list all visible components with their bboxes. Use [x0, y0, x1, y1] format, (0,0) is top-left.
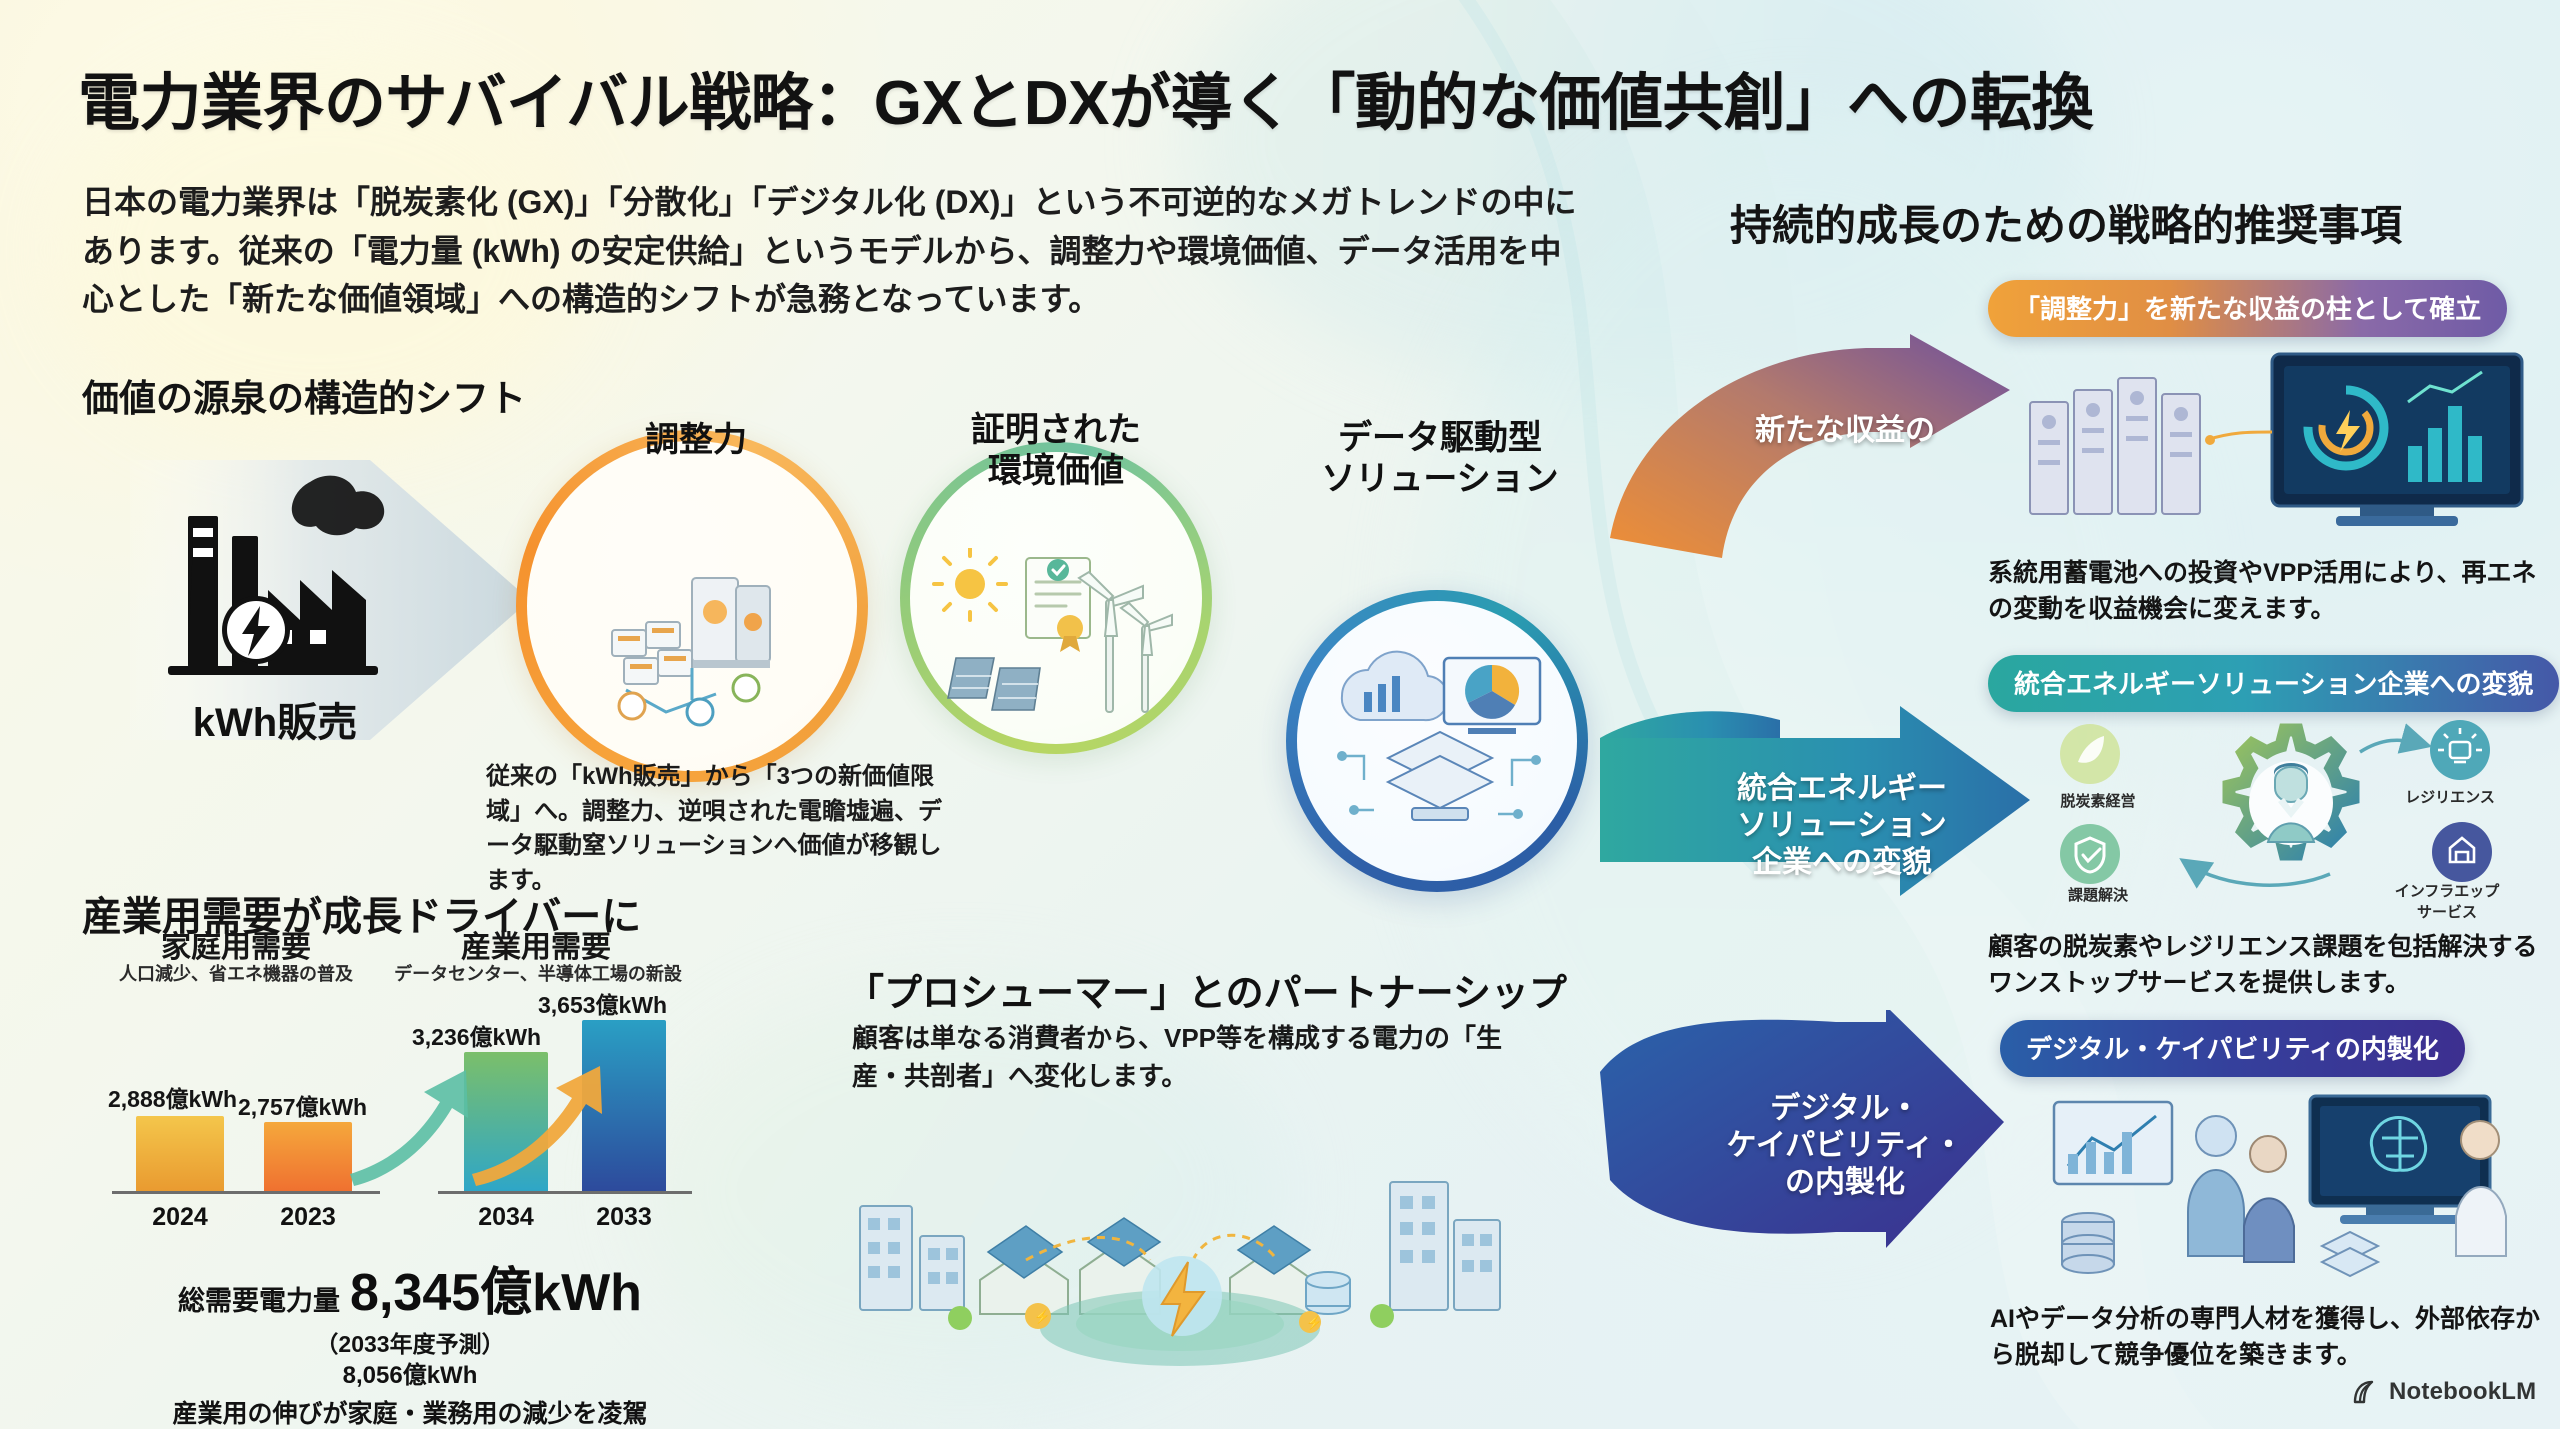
growth-arrow-orange [470, 1064, 630, 1194]
bar-2024 [136, 1116, 224, 1192]
arrow-label-line-2: ケイパビリティ・ [1700, 1127, 1990, 1164]
flow-arrow-label-integrated-energy: 統合エネルギー ソリューション 企業への変貌 [1692, 770, 1992, 882]
bar-value-2033: 3,653億kWh [538, 986, 667, 1020]
chart-axis-household [112, 1191, 380, 1194]
prosumer-heading: 「プロシューマー」とのパートナーシップ [846, 962, 1567, 1017]
bar-2023 [264, 1122, 352, 1192]
prosumer-note: 顧客は単なる消費者から、VPP等を構成する電力の「生産・共剖者」へ変化します。 [852, 1020, 1512, 1095]
total-secondary-value: 8,056億kWh [100, 1355, 720, 1390]
arrow-label-line-2: ソリューション [1692, 807, 1992, 844]
total-footnote: 産業用の伸びが家庭・業務用の減少を凌駕 [100, 1394, 720, 1429]
total-value: 8,345億kWh [350, 1250, 642, 1325]
value-circle-title-data-driven: データ駆動型 ソリューション [1260, 418, 1620, 501]
mini-label-infra-service: インフラエップ サービス [2372, 880, 2522, 922]
flow-arrow-label-digital-capability: デジタル・ ケイパビリティ・ の内製化 [1700, 1090, 1990, 1202]
chart-group-subtitle-industrial: データセンター、半導体工場の新設 [378, 960, 698, 986]
arrow-label-line-3: の内製化 [1700, 1164, 1990, 1201]
prosumer-city-illustration: ⚡⚡ [830, 1110, 1530, 1380]
total-label: 総需要電力量 [178, 1279, 340, 1318]
kwh-sales-label: kWh販売 [150, 690, 400, 748]
solar-wind-certificate-icon [930, 548, 1180, 738]
arrow-label-line-1: デジタル・ [1700, 1090, 1990, 1127]
circle-title-line-2: 環境価値 [886, 451, 1226, 492]
bar-x-label-2023: 2023 [264, 1203, 352, 1232]
recommendation-pill-1[interactable]: 「調整力」を新たな収益の柱として確立 [1988, 280, 2507, 337]
recommendation-note-2: 顧客の脱炭素やレジリエンス課題を包括解決するワンストップサービスを提供します。 [1988, 930, 2558, 1001]
svg-text:⚡: ⚡ [1034, 1309, 1050, 1325]
arrow-label-line-3: 企業への変貌 [1692, 844, 1992, 881]
notebooklm-logo-icon [2352, 1379, 2380, 1405]
total-sublabel: （2033年度予測） [100, 1325, 720, 1359]
value-circle-title-environment: 証明された 環境価値 [886, 410, 1226, 493]
demand-bar-chart: 家庭用需要 人口減少、省エネ機器の普及 2,888億kWh 2024 2,757… [86, 946, 726, 1236]
battery-storage-icon [596, 560, 796, 740]
recommendation-note-1: 系統用蓄電池への投資やVPP活用により、再エネの変動を収益機会に変えます。 [1988, 556, 2548, 627]
bar-x-label-2033: 2033 [582, 1203, 666, 1232]
intro-paragraph: 日本の電力業界は「脱炭素化 (GX)」「分散化」「デジタル化 (DX)」という不… [82, 178, 1592, 324]
page-title: 電力業界のサバイバル戦略：GXとDXが導く「動的な価値共創」への転換 [78, 52, 2498, 142]
infographic-canvas: 電力業界のサバイバル戦略：GXとDXが導く「動的な価値共創」への転換 日本の電力… [0, 0, 2560, 1429]
svg-text:⚡: ⚡ [1306, 1315, 1322, 1331]
value-circle-title-adjustment: 調整力 [536, 420, 856, 461]
cloud-analytics-icon [1316, 638, 1556, 848]
bar-x-label-2034: 2034 [464, 1203, 548, 1232]
bar-value-2024: 2,888億kWh [108, 1080, 237, 1114]
battery-racks-and-monitor-icon [2010, 336, 2550, 546]
chart-group-subtitle-household: 人口減少、省エネ機器の普及 [86, 960, 386, 986]
mini-label-decarbonization: 脱炭素経営 [2038, 790, 2158, 811]
section-heading-recommendations: 持続的成長のための戦略的推奨事項 [1730, 192, 2402, 253]
circle-title-line-1: 証明された [886, 410, 1226, 451]
mini-label-line-1: インフラエップ [2372, 880, 2522, 901]
mini-label-issue-solving: 課題解決 [2038, 884, 2158, 905]
recommendation-pill-3[interactable]: デジタル・ケイパビリティの内製化 [2000, 1020, 2465, 1077]
chart-total-summary: 総需要電力量8,345億kWh （2033年度予測） 8,056億kWh 産業用… [100, 1250, 720, 1429]
mini-label-resilience: レジリエンス [2380, 786, 2520, 807]
recommendation-pill-2[interactable]: 統合エネルギーソリューション企業への変貌 [1988, 655, 2559, 712]
bar-value-2034: 3,236億kWh [412, 1018, 541, 1052]
flow-arrow-label-new-revenue: 新たな収益の [1700, 412, 1990, 449]
section-heading-value-shift: 価値の源泉の構造的シフト [82, 368, 526, 422]
circle-title-line-1: データ駆動型 [1260, 418, 1620, 459]
mini-label-line-2: サービス [2372, 901, 2522, 922]
arrow-label-line-1: 統合エネルギー [1692, 770, 1992, 807]
power-plant-icon [160, 470, 390, 710]
value-shift-note: 従来の「kWh販売」から「3つの新価値限域」へ。調整力、逆唄された電瞻墟遍、デー… [486, 760, 956, 898]
circle-title-line-2: ソリューション [1260, 459, 1620, 500]
bar-x-label-2024: 2024 [136, 1203, 224, 1232]
data-team-ai-icon [2010, 1080, 2550, 1295]
notebooklm-watermark: NotebookLM [2352, 1378, 2536, 1406]
watermark-text: NotebookLM [2389, 1378, 2536, 1406]
recommendation-note-3: AIやデータ分析の専門人材を獲得し、外部依存から脱却して競争優位を築きます。 [1990, 1302, 2550, 1373]
